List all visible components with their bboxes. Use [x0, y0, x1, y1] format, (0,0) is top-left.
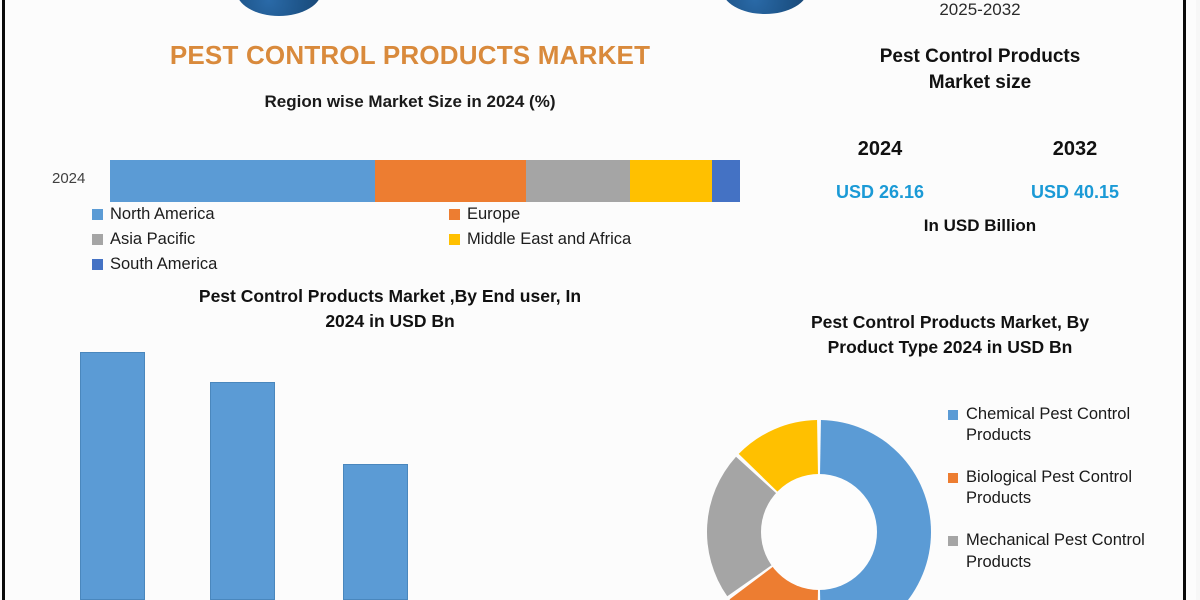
market-size-value-row: USD 26.16 USD 40.15 — [800, 182, 1160, 208]
legend-label-asia-pacific: Asia Pacific — [110, 230, 195, 249]
legend-label-europe: Europe — [467, 205, 520, 224]
market-size-unit: In USD Billion — [800, 216, 1160, 236]
market-size-year-end: 2032 — [1005, 138, 1145, 161]
end-user-chart-title-line2: 2024 in USD Bn — [80, 309, 700, 334]
market-size-value-start: USD 26.16 — [805, 182, 955, 203]
left-border — [2, 0, 5, 600]
legend-swatch-asia-pacific — [92, 234, 103, 245]
legend-item-south-america: South America — [92, 255, 217, 274]
legend-item-north-america: North America — [92, 205, 215, 224]
product-type-legend: Chemical Pest Control Products Biologica… — [948, 404, 1178, 594]
legend-label-south-america: South America — [110, 255, 217, 274]
decorative-circle-left — [236, 0, 322, 16]
legend-label-chemical: Chemical Pest Control Products — [966, 404, 1178, 446]
decorative-circle-right — [722, 0, 808, 14]
market-size-year-start: 2024 — [810, 138, 950, 161]
legend-swatch-europe — [449, 209, 460, 220]
infographic-canvas: PEST CONTROL PRODUCTS MARKET Region wise… — [0, 0, 1200, 600]
region-axis-label: 2024 — [52, 170, 104, 187]
donut-center-hole — [761, 474, 877, 590]
legend-swatch-south-america — [92, 259, 103, 270]
legend-label-middle-east-and-africa: Middle East and Africa — [467, 230, 631, 249]
end-user-bar-2 — [210, 382, 275, 600]
legend-swatch-middle-east-and-africa — [449, 234, 460, 245]
legend-item-biological-pest-control-products: Biological Pest Control Products — [948, 467, 1178, 509]
legend-item-asia-pacific: Asia Pacific — [92, 230, 195, 249]
product-type-chart-title: Pest Control Products Market, By Product… — [740, 310, 1160, 361]
market-size-heading-line1: Pest Control Products — [800, 44, 1160, 70]
region-segment-europe — [375, 160, 526, 202]
market-size-value-end: USD 40.15 — [1000, 182, 1150, 203]
legend-label-biological: Biological Pest Control Products — [966, 467, 1178, 509]
region-bar-track — [110, 160, 740, 202]
product-type-chart-title-line1: Pest Control Products Market, By — [740, 310, 1160, 335]
legend-label-north-america: North America — [110, 205, 215, 224]
region-chart-subtitle: Region wise Market Size in 2024 (%) — [70, 92, 750, 112]
market-size-year-row: 2024 2032 — [800, 138, 1160, 166]
market-size-heading: Pest Control Products Market size — [800, 44, 1160, 95]
end-user-bar-3 — [343, 464, 408, 600]
forecast-period: 2025-2032 — [830, 0, 1130, 20]
region-segment-asia-pacific — [526, 160, 630, 202]
right-border — [1183, 0, 1186, 600]
market-size-heading-line2: Market size — [800, 70, 1160, 96]
region-segment-south-america — [712, 160, 740, 202]
legend-swatch-chemical — [948, 410, 958, 420]
end-user-bar-1 — [80, 352, 145, 600]
legend-item-europe: Europe — [449, 205, 520, 224]
legend-swatch-north-america — [92, 209, 103, 220]
end-user-chart-title: Pest Control Products Market ,By End use… — [80, 284, 700, 335]
outer-right-margin — [1196, 0, 1200, 600]
product-type-chart-title-line2: Product Type 2024 in USD Bn — [740, 335, 1160, 360]
region-segment-north-america — [110, 160, 375, 202]
region-stacked-bar-chart: 2024 — [52, 160, 752, 202]
legend-item-mechanical-pest-control-products: Mechanical Pest Control Products — [948, 530, 1178, 572]
end-user-chart-title-line1: Pest Control Products Market ,By End use… — [80, 284, 700, 309]
legend-swatch-mechanical — [948, 536, 958, 546]
region-legend: North America Europe Asia Pacific Middle… — [92, 205, 712, 277]
end-user-bar-chart — [10, 340, 710, 600]
legend-item-chemical-pest-control-products: Chemical Pest Control Products — [948, 404, 1178, 446]
legend-item-middle-east-and-africa: Middle East and Africa — [449, 230, 631, 249]
page-title: PEST CONTROL PRODUCTS MARKET — [70, 40, 750, 71]
region-segment-middle-east-africa — [630, 160, 712, 202]
product-type-donut-chart — [703, 416, 935, 600]
legend-label-mechanical: Mechanical Pest Control Products — [966, 530, 1178, 572]
legend-swatch-biological — [948, 473, 958, 483]
